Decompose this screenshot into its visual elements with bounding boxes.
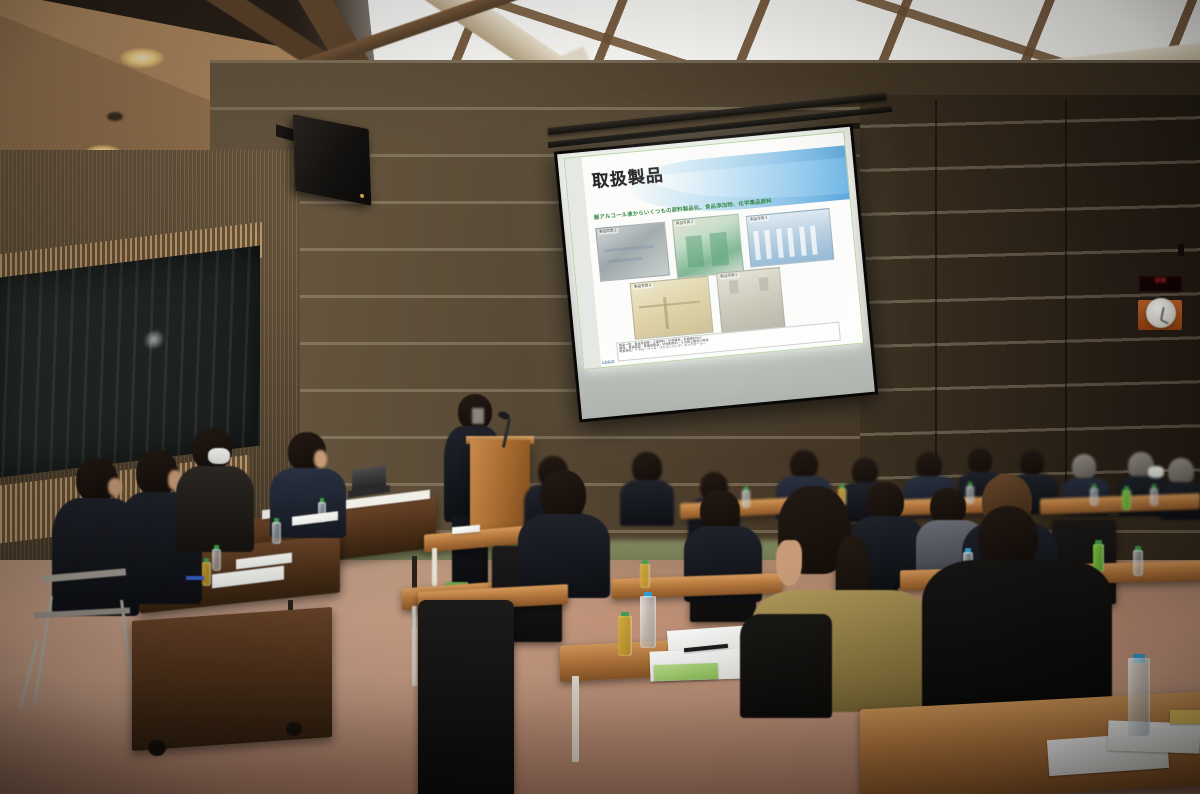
drink-bottle (1133, 546, 1143, 576)
wall-clock-icon (1146, 298, 1176, 328)
slide-photo-caption: 製品写真３ (749, 216, 769, 223)
desk-leg (572, 676, 579, 762)
caster-wheel-icon (286, 722, 302, 736)
slide-photo: 製品写真１ (595, 221, 670, 282)
photo-detail (810, 225, 818, 255)
drink-bottle (742, 486, 750, 508)
photo-detail (799, 226, 807, 256)
drink-bottle (618, 612, 632, 656)
drink-bottle (1150, 484, 1158, 506)
led-sign-text: 禁煩 (1140, 277, 1181, 285)
photo-detail (609, 257, 643, 263)
photo-detail (759, 277, 769, 291)
drink-bottle (640, 592, 656, 648)
photo-detail (753, 231, 761, 261)
drink-bottle (212, 545, 221, 571)
drink-bottle (640, 560, 650, 588)
handout-papers (654, 663, 719, 681)
photo-detail (605, 245, 654, 253)
ceiling-speaker-icon (293, 114, 372, 205)
drink-bottle (1128, 654, 1150, 736)
projection-screen: 取扱製品 脈アルコール液からいくつもの原料製品化、食品添加物、化学薬品原料 製品… (554, 123, 878, 422)
slide-photo-caption: 製品写真１ (598, 228, 618, 235)
drink-bottle (202, 558, 211, 586)
caster-wheel-icon (148, 740, 166, 756)
clock-hour-hand-icon (1161, 319, 1169, 324)
slide-photo: 製品写真４ (630, 275, 713, 339)
speaker-led-icon (360, 193, 364, 198)
slide-photo-caption: 製品写真５ (719, 272, 739, 279)
ceiling-vent-icon (107, 112, 123, 121)
photo-detail (639, 300, 700, 308)
photo-detail (729, 280, 739, 294)
downlight-icon (120, 48, 164, 68)
slide-logo: LOGO (602, 359, 615, 365)
wall-seam (935, 100, 937, 500)
drink-bottle (1122, 486, 1131, 510)
slide-photo: 製品写真３ (746, 208, 835, 268)
podium (470, 440, 530, 532)
wall-fitting (1178, 244, 1184, 256)
photo-detail (765, 230, 773, 260)
slide-photo: 製品写真２ (672, 213, 745, 278)
slide-photo-caption: 製品写真４ (633, 283, 653, 290)
sticky-note (1170, 710, 1200, 724)
presentation-slide: 取扱製品 脈アルコール液からいくつもの原料製品化、食品添加物、化学薬品原料 製品… (563, 131, 864, 369)
chair (418, 600, 514, 794)
seminar-room-photo: 禁煩 取扱製品 脈アルコール液からいくつもの原料製品化、食品添加物、化学薬品原料… (0, 0, 1200, 794)
screen-surface: 取扱製品 脈アルコール液からいくつもの原料製品化、食品添加物、化学薬品原料 製品… (557, 127, 875, 419)
slide-photo-caption: 製品写真２ (675, 219, 695, 226)
pen-icon (186, 576, 204, 580)
photo-detail (776, 229, 784, 259)
drink-bottle (1090, 484, 1098, 506)
wall-seam (1065, 100, 1067, 500)
photo-detail (663, 297, 669, 329)
photo-detail (709, 231, 729, 266)
led-sign: 禁煩 (1139, 276, 1182, 292)
photo-detail (787, 228, 795, 258)
drink-bottle (966, 482, 974, 504)
handout-papers (1108, 720, 1200, 753)
clock-minute-hand-icon (1160, 307, 1164, 320)
photo-detail (686, 235, 705, 268)
desk-leg (412, 606, 417, 686)
equipment-cart (132, 607, 332, 751)
drink-bottle (272, 518, 281, 544)
slide-photo: 製品写真５ (716, 266, 786, 333)
